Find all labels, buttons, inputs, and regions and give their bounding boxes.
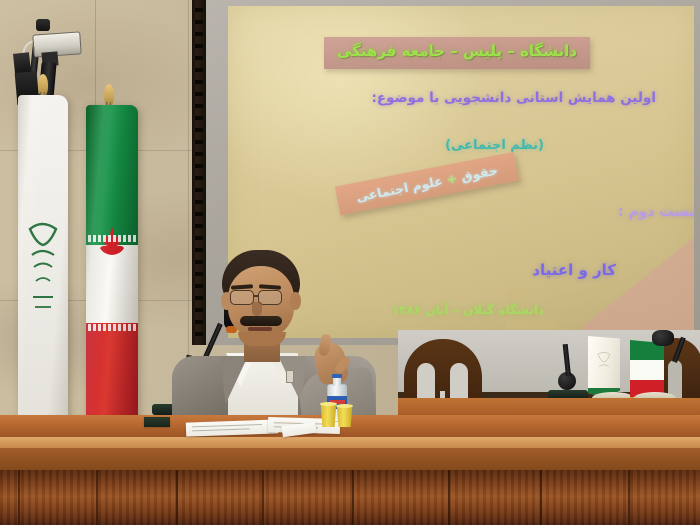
dark-object-on-table bbox=[144, 417, 170, 427]
screenshot-root: دانشگاه – پلیس – جامعه فرهنگی اولین همای… bbox=[0, 0, 700, 525]
name-badge bbox=[286, 370, 294, 383]
slide-title: دانشگاه – پلیس – جامعه فرهنگی bbox=[324, 42, 590, 60]
slide-topic: (نظم اجتماعی) bbox=[300, 138, 544, 153]
secondary-table-top bbox=[398, 398, 700, 416]
slide-session-label: نشست دوم : bbox=[300, 204, 694, 220]
wooden-chair bbox=[404, 339, 482, 401]
nose bbox=[252, 302, 262, 316]
chin bbox=[238, 332, 286, 346]
glasses-bridge bbox=[254, 295, 259, 297]
banner-right-text: حقوق bbox=[460, 162, 499, 184]
camera-lens-icon bbox=[36, 19, 50, 31]
banner-left-text: علوم اجتماعی bbox=[355, 173, 444, 204]
slide-decor-triangle bbox=[556, 228, 694, 338]
desk-flag-emblem-icon bbox=[592, 350, 616, 384]
caption-bar-wood-grain bbox=[0, 470, 700, 525]
banner-plus-sign: + bbox=[445, 170, 458, 187]
main-table-edge bbox=[0, 437, 700, 448]
slide-subtitle: اولین همایش استانی دانشجویی با موضوع: bbox=[300, 90, 656, 106]
ear-right bbox=[290, 292, 301, 310]
glasses-lens-left bbox=[230, 290, 254, 305]
caption-bar: همایش " دانشگاه ــ پلیس وجامعه فرهنگی " … bbox=[0, 470, 700, 525]
camera-junction-box bbox=[13, 52, 31, 74]
desk-university-flag bbox=[588, 336, 634, 402]
desk-iran-flag bbox=[630, 340, 676, 402]
university-emblem-icon bbox=[24, 215, 62, 335]
mustache bbox=[240, 316, 282, 326]
mouth bbox=[248, 327, 272, 331]
